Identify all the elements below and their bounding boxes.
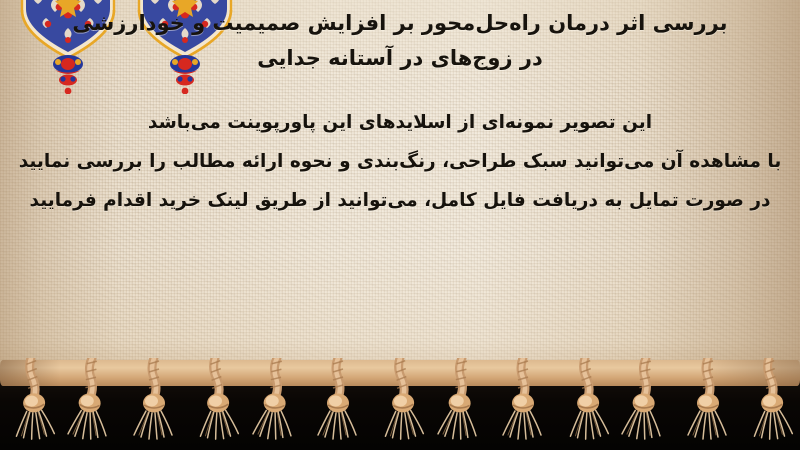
slide-body-line-2: با مشاهده آن می‌توانید سبک طراحی، رنگ‌بن… xyxy=(0,142,800,181)
slide-text-block: بررسی اثر درمان راه‌حل‌محور بر افزایش صم… xyxy=(0,0,800,220)
fringe-tassel xyxy=(247,358,307,450)
fringe-tassel xyxy=(370,358,430,450)
slide-canvas: بررسی اثر درمان راه‌حل‌محور بر افزایش صم… xyxy=(0,0,800,450)
slide-title-line-1: بررسی اثر درمان راه‌حل‌محور بر افزایش صم… xyxy=(0,6,800,41)
slide-body-line-1: این تصویر نمونه‌ای از اسلایدهای این پاور… xyxy=(0,103,800,142)
fringe-tassel xyxy=(124,358,184,450)
slide-title-line-2: در زوج‌های در آستانه جدایی xyxy=(0,41,800,76)
fringe-tassel xyxy=(185,358,245,450)
knotted-tassel-fringe-icon xyxy=(0,352,800,450)
slide-body-line-3: در صورت تمایل به دریافت فایل کامل، می‌تو… xyxy=(0,181,800,220)
fringe-tassel xyxy=(555,358,615,450)
fringe-tassel xyxy=(616,358,676,450)
fringe-tassel xyxy=(1,358,61,450)
fringe-tassel xyxy=(493,358,553,450)
fringe-tassel xyxy=(739,358,799,450)
fringe-tassel xyxy=(432,358,492,450)
fringe-tassel xyxy=(678,358,738,450)
fringe-tassel xyxy=(62,358,122,450)
fringe-tassel xyxy=(308,358,368,450)
